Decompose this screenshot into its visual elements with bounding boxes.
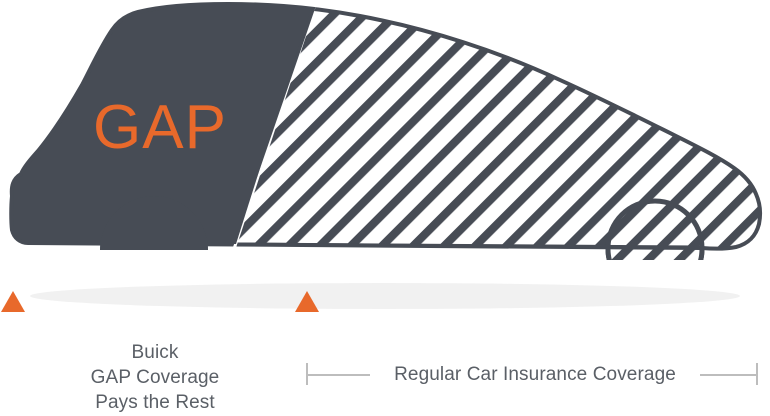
gap-caption-line-3: Pays the Rest [50,390,260,415]
insurance-coverage-label: Regular Car Insurance Coverage [370,363,700,386]
gap-caption-line-2: GAP Coverage [50,365,260,390]
gap-coverage-diagram: GAP Buick GAP Coverage Pays the Rest Reg… [0,0,770,416]
ground-shadow [30,283,740,309]
gap-label: GAP [93,93,227,162]
gap-caption: Buick GAP Coverage Pays the Rest [50,340,260,415]
gap-caption-line-1: Buick [50,340,260,365]
gap-start-marker [1,291,25,312]
